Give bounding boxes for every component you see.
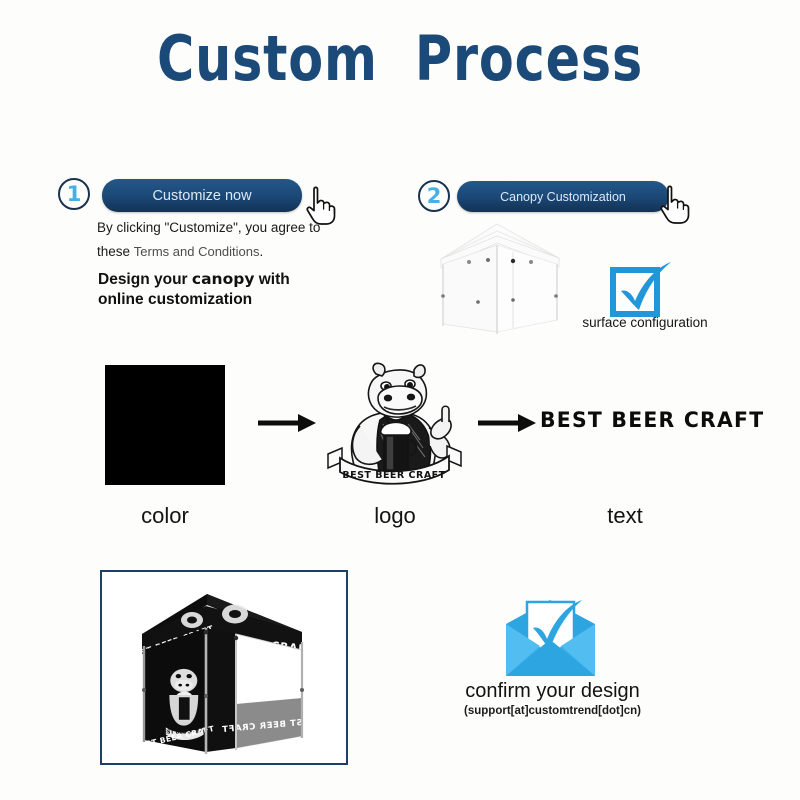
pointing-hand-icon — [657, 184, 691, 224]
envelope-check-icon — [498, 598, 603, 678]
headline-part-a: Design your — [98, 271, 192, 288]
final-canopy-preview-frame: BEST BEER CRAFT BEST BEER CRAFT — [100, 570, 348, 765]
terms-and-conditions-link[interactable]: Terms and Conditions — [134, 244, 260, 259]
headline-emphasis-canopy: canopy — [192, 270, 255, 288]
customize-now-button[interactable]: Customize now — [102, 179, 302, 212]
step-number-2: 2 — [418, 180, 450, 212]
support-email-text: (support[at]customtrend[dot]cn) — [430, 705, 675, 717]
page-title: Custom Process — [72, 28, 728, 90]
check-square-icon — [608, 256, 678, 324]
custom-process-infographic: Custom Process 1 Customize now By clicki… — [0, 0, 800, 800]
confirm-design-label: confirm your design — [430, 680, 675, 703]
arrow-right-icon — [478, 412, 538, 434]
final-canopy-tent-image: BEST BEER CRAFT BEST BEER CRAFT — [102, 572, 346, 763]
brand-logo-image: BEST BEER CRAFT — [322, 358, 467, 490]
step1-headline: Design your canopy with online customiza… — [98, 269, 338, 310]
row-label-text: text — [555, 503, 695, 529]
row-label-color: color — [95, 503, 235, 529]
white-canopy-tent-image — [425, 212, 575, 337]
canopy-customization-button[interactable]: Canopy Customization — [457, 181, 669, 212]
terms-tail-text: . — [260, 244, 264, 259]
arrow-right-icon — [258, 412, 318, 434]
surface-configuration-label: surface configuration — [560, 315, 730, 330]
terms-disclaimer: By clicking "Customize", you agree to th… — [97, 216, 327, 264]
brand-text-sample: BEST BEER CRAFT — [540, 408, 764, 432]
row-label-logo: logo — [325, 503, 465, 529]
svg-text:BEST BEER CRAFT: BEST BEER CRAFT — [342, 470, 445, 481]
color-swatch[interactable] — [105, 365, 225, 485]
step-number-1: 1 — [58, 178, 90, 210]
